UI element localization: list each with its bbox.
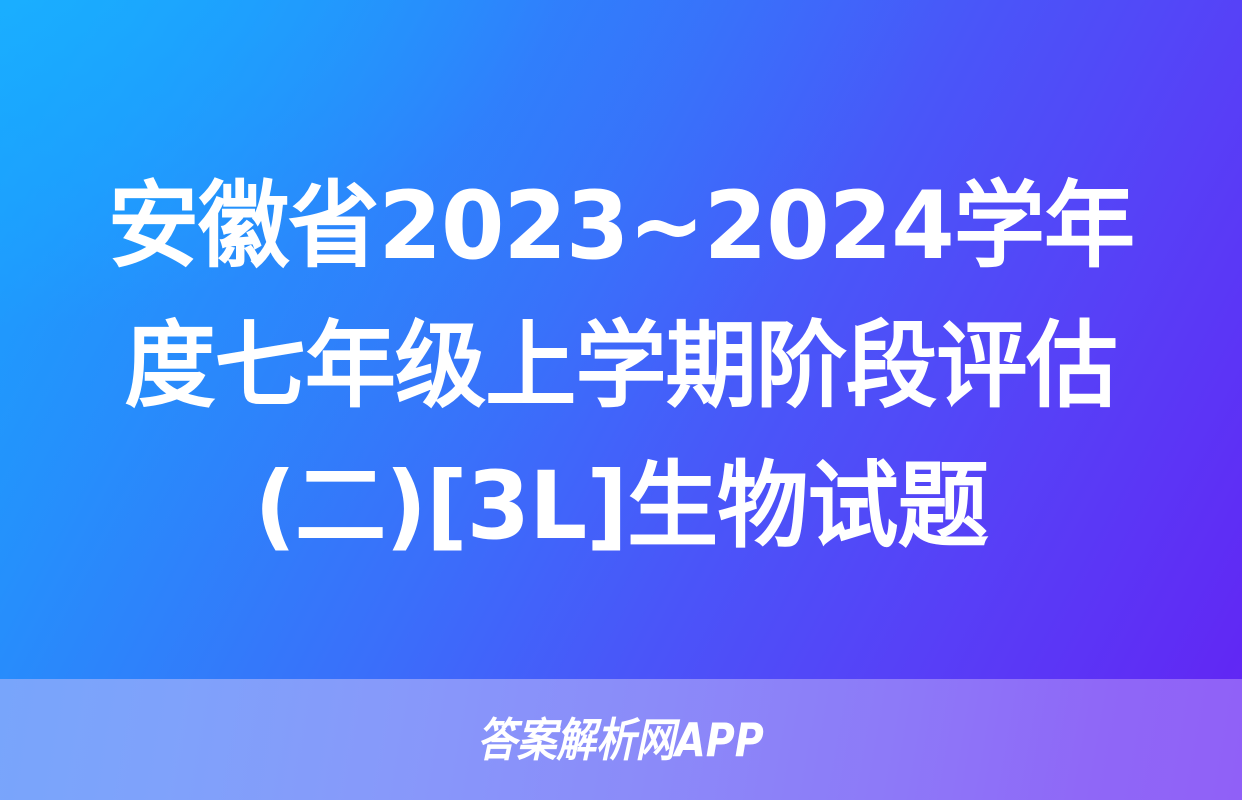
page-title: 安徽省2023~2024学年 度七年级上学期阶段评估 (二)[3L]生物试题 — [0, 0, 1242, 679]
exam-cover-poster: 安徽省2023~2024学年 度七年级上学期阶段评估 (二)[3L]生物试题 答… — [0, 0, 1242, 800]
footer-watermark-area: 答案解析网APP — [0, 679, 1242, 800]
title-line-1: 安徽省2023~2024学年 — [108, 157, 1134, 297]
title-line-2: 度七年级上学期阶段评估 — [125, 297, 1117, 437]
watermark-text: 答案解析网APP — [478, 714, 764, 766]
title-line-3: (二)[3L]生物试题 — [254, 437, 987, 577]
